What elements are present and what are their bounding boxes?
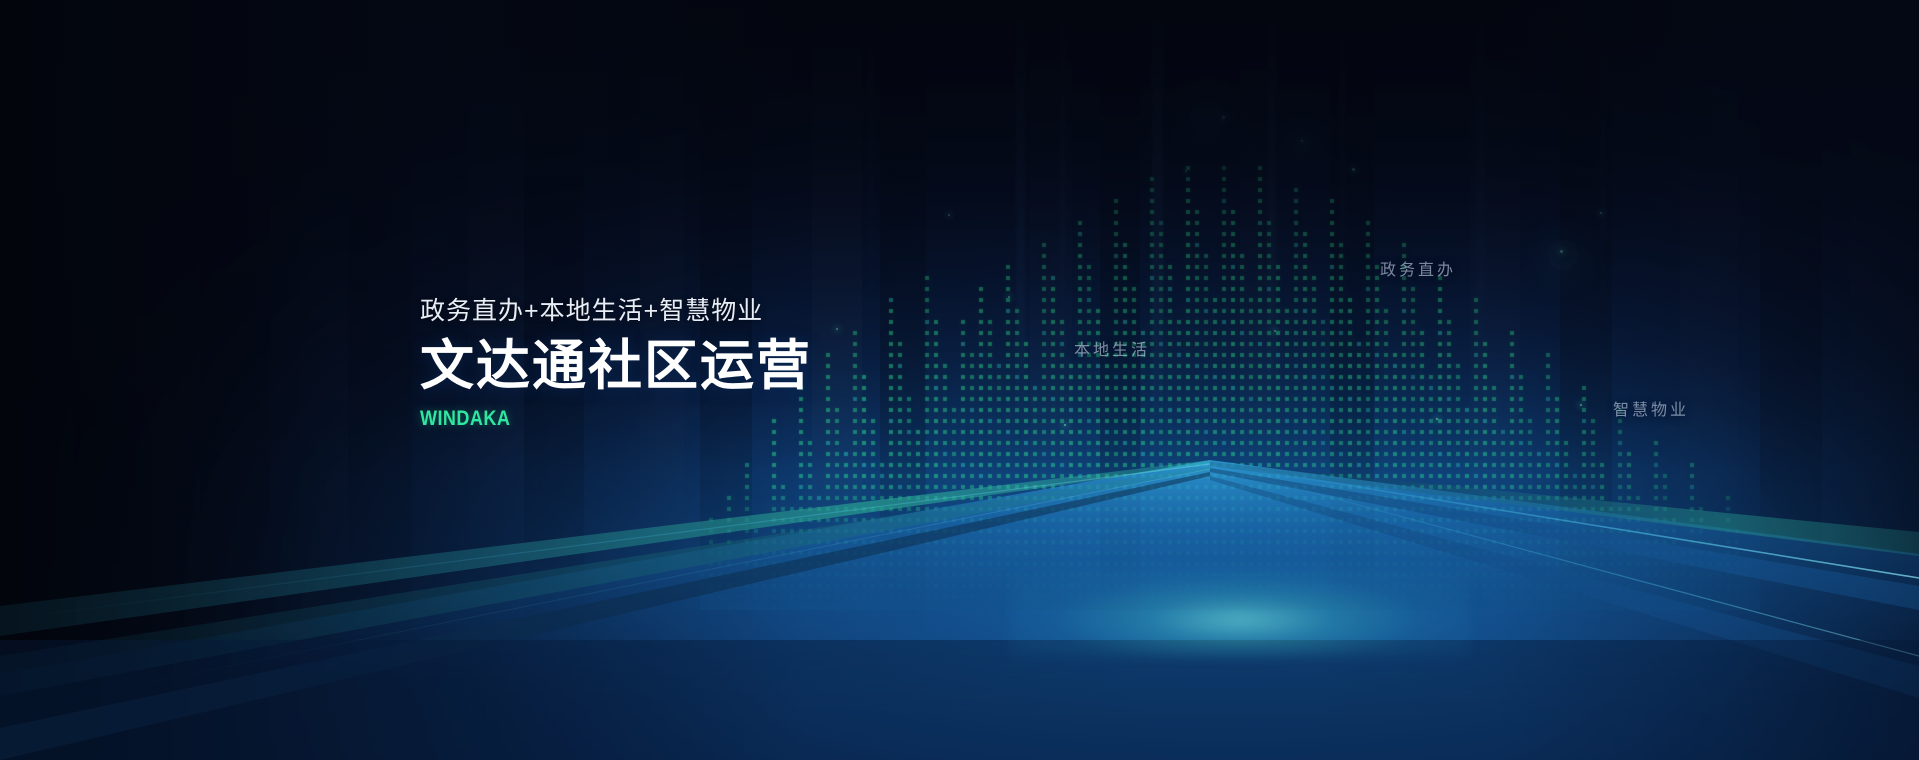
district-label-local-life: 本地生活: [1074, 336, 1150, 360]
hero-headline: 文达通社区运营: [420, 337, 1060, 395]
hero-subtitle: 政务直办+本地生活+智慧物业: [420, 296, 1060, 327]
brand-wordmark: WINDAKA: [420, 407, 970, 431]
hero-copy: 政务直办+本地生活+智慧物业 文达通社区运营 WINDAKA: [420, 296, 1060, 431]
hero-banner: 政务直办+本地生活+智慧物业 文达通社区运营 WINDAKA 政务直办 本地生活…: [0, 0, 1919, 760]
perspective-ground: [0, 460, 1919, 760]
district-label-government: 政务直办: [1380, 256, 1456, 280]
district-label-smart-property: 智慧物业: [1613, 396, 1689, 420]
